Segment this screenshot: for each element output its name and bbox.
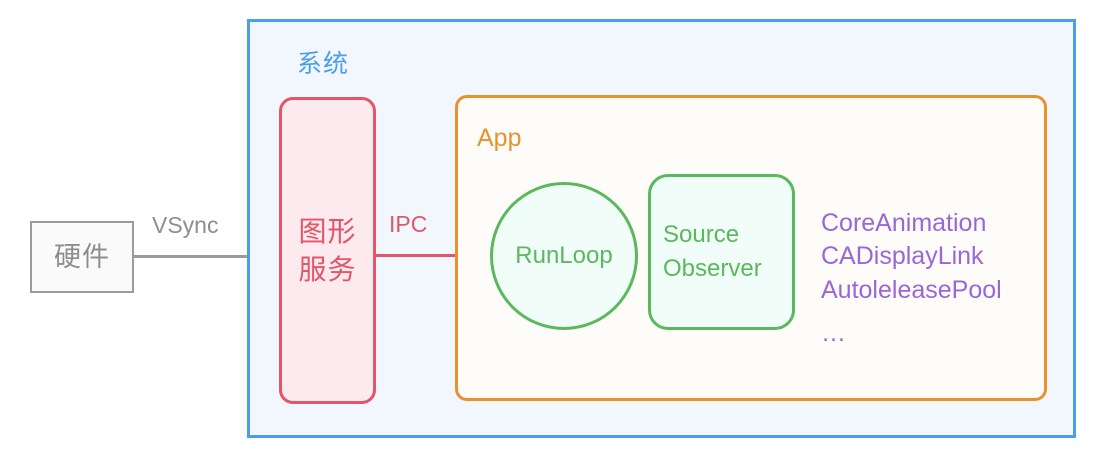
graphics-service-label-line1: 图形: [298, 213, 356, 251]
api-list-item-coreanimation: CoreAnimation: [821, 207, 1002, 240]
api-list: CoreAnimation CADisplayLink AutoleleaseP…: [821, 207, 1002, 350]
api-list-ellipsis: …: [821, 317, 1002, 350]
api-list-item-cadisplaylink: CADisplayLink: [821, 240, 1002, 273]
vsync-connector-line: [134, 255, 262, 258]
api-list-item-autoleleasepool: AutoleleasePool: [821, 274, 1002, 307]
source-observer-node: Source Observer: [648, 174, 795, 330]
graphics-service-label-line2: 服务: [298, 251, 356, 289]
source-label: Source: [663, 218, 739, 252]
runloop-label: RunLoop: [515, 244, 612, 268]
vsync-label: VSync: [152, 212, 218, 239]
runloop-node: RunLoop: [490, 182, 638, 330]
hardware-box: 硬件: [30, 221, 134, 293]
ipc-label: IPC: [389, 211, 427, 238]
app-label: App: [477, 124, 521, 153]
diagram-canvas: 硬件 VSync 系统 图形 服务 IPC App RunLoop Source…: [0, 0, 1098, 456]
hardware-label: 硬件: [54, 244, 110, 271]
system-label: 系统: [297, 44, 349, 80]
graphics-service-box: 图形 服务: [279, 97, 376, 404]
observer-label: Observer: [663, 252, 762, 286]
